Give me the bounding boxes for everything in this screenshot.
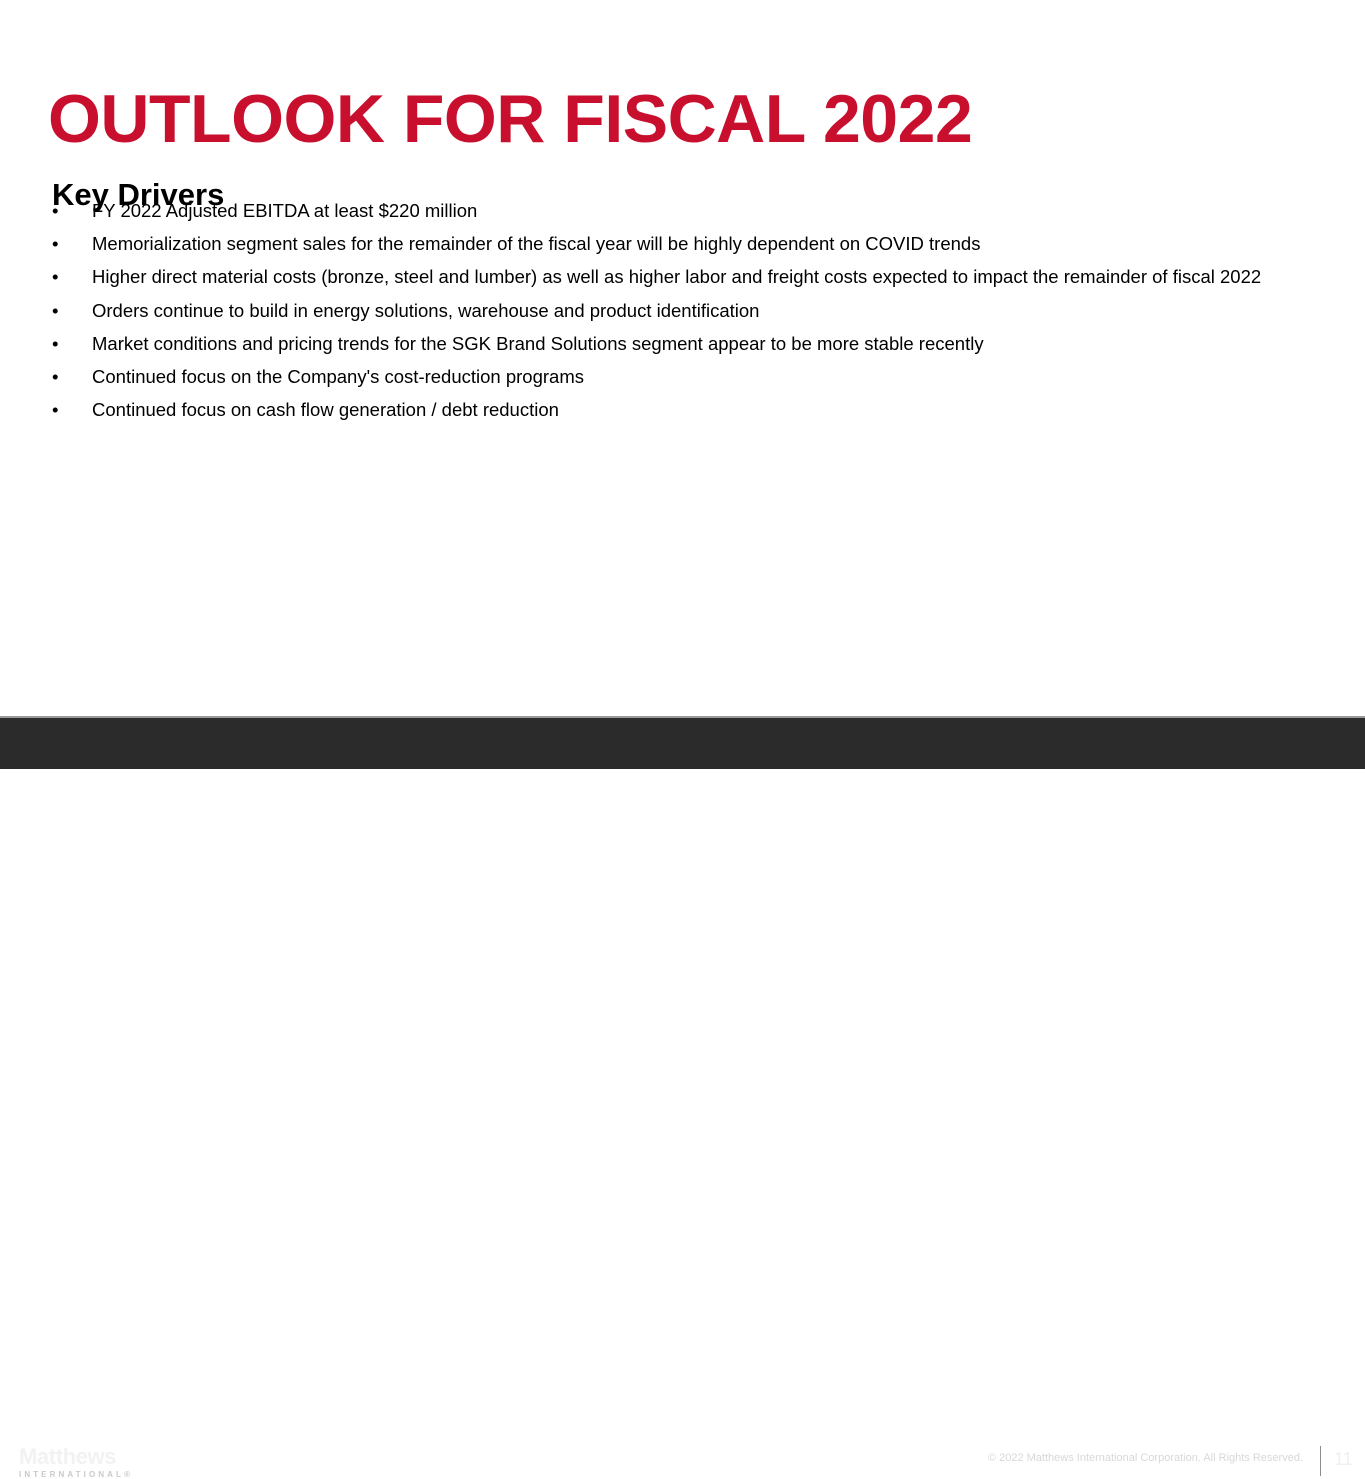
bullet-point-icon: •	[52, 265, 72, 289]
list-item: • Market conditions and pricing trends f…	[52, 332, 1322, 356]
bullet-point-icon: •	[52, 332, 72, 356]
list-item-text: Continued focus on cash flow generation …	[92, 398, 1322, 422]
page-title: OUTLOOK FOR FISCAL 2022	[48, 84, 972, 155]
bullet-point-icon: •	[52, 232, 72, 256]
list-item-text: FY 2022 Adjusted EBITDA at least $220 mi…	[92, 199, 1322, 223]
key-drivers-list: • FY 2022 Adjusted EBITDA at least $220 …	[52, 199, 1322, 431]
list-item: • Continued focus on the Company's cost-…	[52, 365, 1322, 389]
slide-footer: Matthews INTERNATIONAL® © 2022 Matthews …	[0, 718, 1365, 769]
copyright-text: © 2022 Matthews International Corporatio…	[988, 1452, 1303, 1464]
company-logo: Matthews INTERNATIONAL®	[19, 1446, 133, 1479]
list-item-text: Memorialization segment sales for the re…	[92, 232, 1322, 256]
list-item-text: Higher direct material costs (bronze, st…	[92, 265, 1322, 289]
list-item: • Memorialization segment sales for the …	[52, 232, 1322, 256]
bullet-point-icon: •	[52, 365, 72, 389]
bullet-point-icon: •	[52, 398, 72, 422]
presentation-slide: OUTLOOK FOR FISCAL 2022 Key Drivers • FY…	[0, 0, 1365, 769]
page-number: 11	[1334, 1449, 1353, 1470]
logo-tagline: INTERNATIONAL®	[19, 1471, 133, 1479]
footer-vertical-divider	[1320, 1446, 1321, 1476]
list-item: • Higher direct material costs (bronze, …	[52, 265, 1322, 289]
bullet-point-icon: •	[52, 299, 72, 323]
list-item: • FY 2022 Adjusted EBITDA at least $220 …	[52, 199, 1322, 223]
list-item-text: Orders continue to build in energy solut…	[92, 299, 1322, 323]
logo-wordmark: Matthews	[19, 1446, 133, 1468]
list-item: • Continued focus on cash flow generatio…	[52, 398, 1322, 422]
list-item-text: Continued focus on the Company's cost-re…	[92, 365, 1322, 389]
bullet-point-icon: •	[52, 199, 72, 223]
list-item: • Orders continue to build in energy sol…	[52, 299, 1322, 323]
list-item-text: Market conditions and pricing trends for…	[92, 332, 1322, 356]
